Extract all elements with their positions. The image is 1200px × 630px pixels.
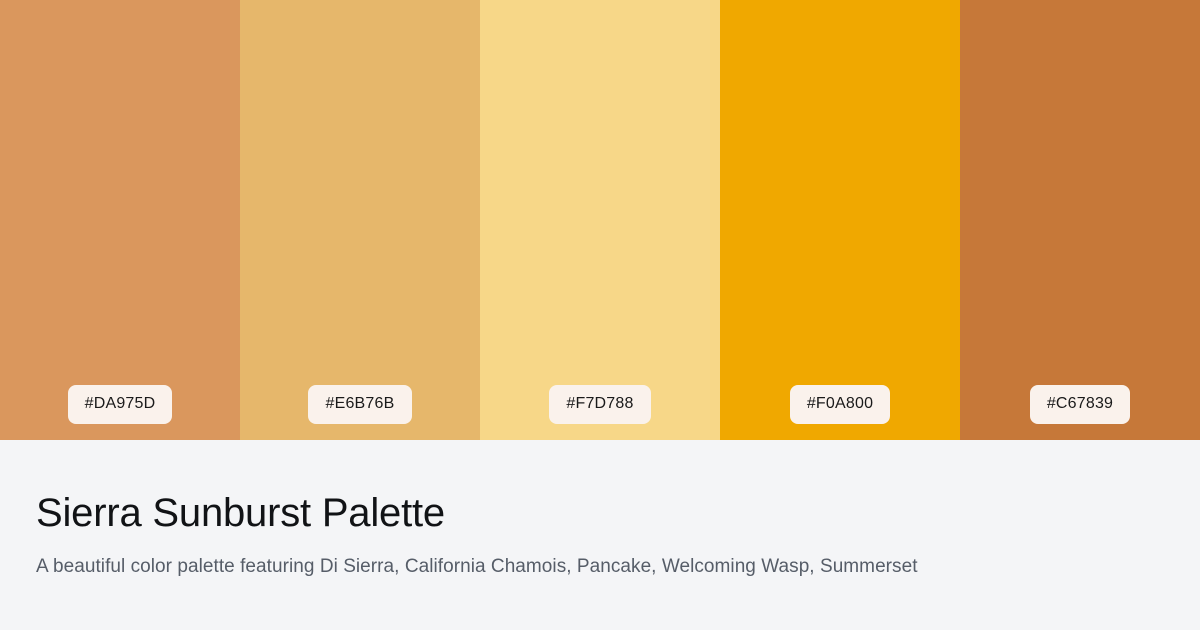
color-swatch[interactable]: #E6B76B xyxy=(240,0,480,440)
swatch-hex-label[interactable]: #F0A800 xyxy=(790,385,890,424)
color-swatch[interactable]: #F0A800 xyxy=(720,0,960,440)
color-swatch[interactable]: #DA975D xyxy=(0,0,240,440)
swatch-hex-label[interactable]: #DA975D xyxy=(68,385,173,424)
caption-area: Sierra Sunburst Palette A beautiful colo… xyxy=(0,440,1200,630)
color-swatch[interactable]: #C67839 xyxy=(960,0,1200,440)
swatch-strip: #DA975D #E6B76B #F7D788 #F0A800 #C67839 xyxy=(0,0,1200,440)
palette-card: #DA975D #E6B76B #F7D788 #F0A800 #C67839 … xyxy=(0,0,1200,630)
swatch-hex-label[interactable]: #C67839 xyxy=(1030,385,1130,424)
page-title: Sierra Sunburst Palette xyxy=(36,490,1164,536)
page-subtitle: A beautiful color palette featuring Di S… xyxy=(36,554,1164,580)
swatch-hex-label[interactable]: #F7D788 xyxy=(549,385,650,424)
swatch-hex-label[interactable]: #E6B76B xyxy=(308,385,411,424)
color-swatch[interactable]: #F7D788 xyxy=(480,0,720,440)
